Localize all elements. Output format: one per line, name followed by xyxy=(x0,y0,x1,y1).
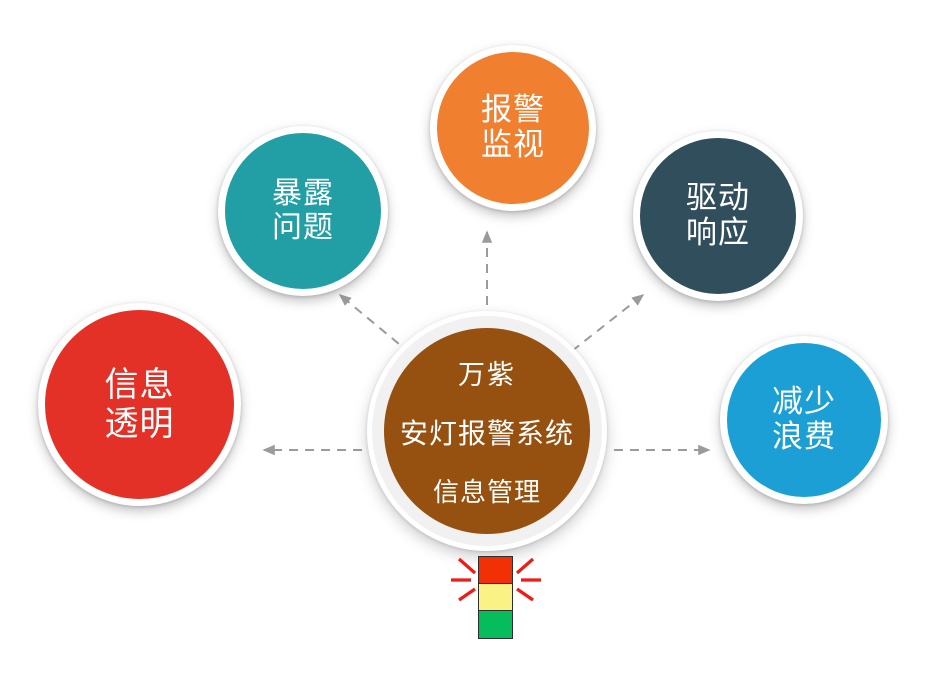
node-expose-problems-line2: 问题 xyxy=(272,211,334,245)
diagram-canvas: 信息 透明 暴露 问题 报警 监视 驱动 响应 减少 浪费 万紫 安灯报警系统 … xyxy=(0,0,939,680)
node-information-transparency-line2: 透明 xyxy=(105,405,175,443)
center-node-line2: 安灯报警系统 xyxy=(400,412,574,452)
node-information-transparency[interactable]: 信息 透明 xyxy=(38,303,241,506)
node-information-transparency-line1: 信息 xyxy=(105,366,175,404)
node-reduce-waste[interactable]: 减少 浪费 xyxy=(720,336,888,504)
node-reduce-waste-line2: 浪费 xyxy=(772,420,836,455)
node-reduce-waste-line1: 减少 xyxy=(772,385,836,420)
node-drive-response-line1: 驱动 xyxy=(686,181,750,216)
center-node-line3: 信息管理 xyxy=(433,472,541,509)
node-drive-response[interactable]: 驱动 响应 xyxy=(633,131,803,301)
node-expose-problems-line1: 暴露 xyxy=(272,177,334,211)
andon-red-lamp xyxy=(478,556,513,584)
node-expose-problems[interactable]: 暴露 问题 xyxy=(218,126,388,296)
andon-green-lamp xyxy=(478,610,513,639)
node-alarm-monitor-line1: 报警 xyxy=(481,93,545,128)
andon-yellow-lamp xyxy=(478,583,513,611)
connector-center-to-drive-response xyxy=(572,295,643,351)
center-node-line1: 万紫 xyxy=(458,353,516,392)
node-alarm-monitor[interactable]: 报警 监视 xyxy=(430,45,596,211)
andon-light-tower xyxy=(446,552,546,652)
node-drive-response-line2: 响应 xyxy=(686,216,750,251)
center-node[interactable]: 万紫 安灯报警系统 信息管理 xyxy=(384,328,590,534)
node-alarm-monitor-line2: 监视 xyxy=(481,128,545,163)
connector-center-to-expose-problems xyxy=(340,295,411,354)
